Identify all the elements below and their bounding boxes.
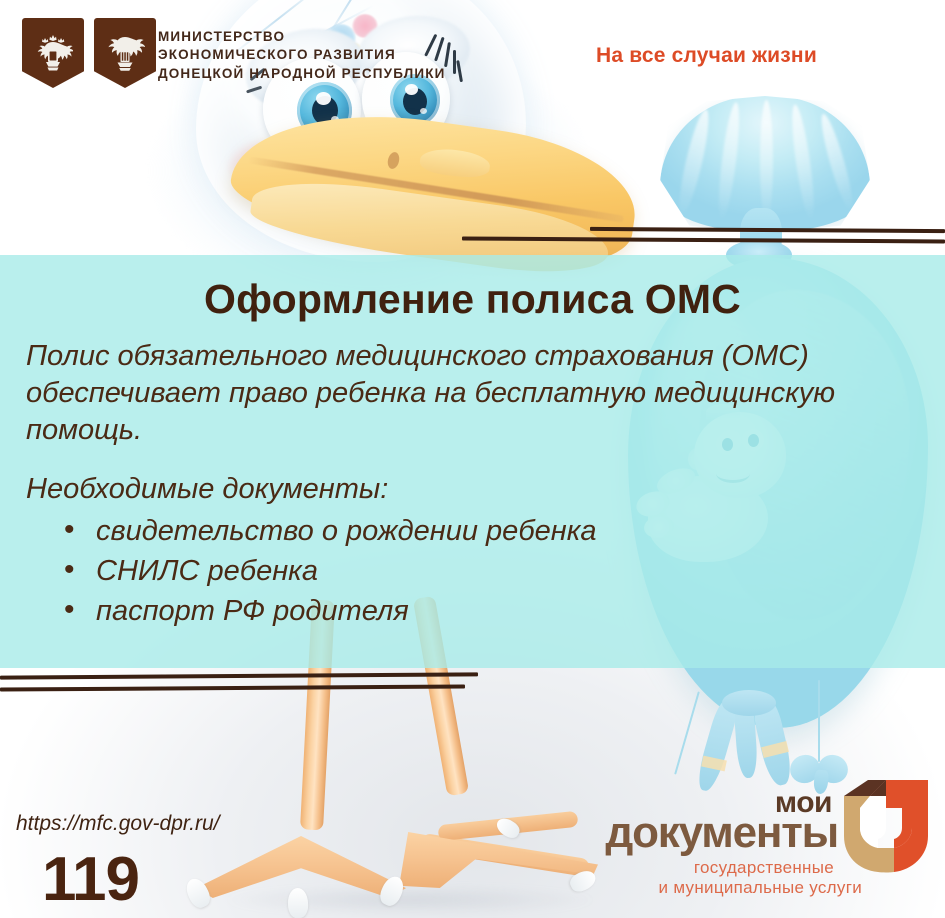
donetsk-peoples-republic-coat-of-arms-icon xyxy=(94,18,156,88)
tagline: На все случаи жизни xyxy=(596,44,817,68)
bundle-fold xyxy=(760,100,773,222)
header: МИНИСТЕРСТВО ЭКОНОМИЧЕСКОГО РАЗВИТИЯ ДОН… xyxy=(0,0,945,110)
content-panel: Оформление полиса ОМС Полис обязательног… xyxy=(0,255,945,668)
documents-list: свидетельство о рождении ребенка СНИЛС р… xyxy=(26,512,919,631)
mfc-logo-subtitle-line1: государственные xyxy=(694,858,834,878)
page-title: Оформление полиса ОМС xyxy=(26,255,919,322)
emblems-group xyxy=(22,18,156,88)
poster: МИНИСТЕРСТВО ЭКОНОМИЧЕСКОГО РАЗВИТИЯ ДОН… xyxy=(0,0,945,918)
mfc-shield-icon xyxy=(842,778,930,874)
ministry-name: МИНИСТЕРСТВО ЭКОНОМИЧЕСКОГО РАЗВИТИЯ ДОН… xyxy=(158,28,445,83)
documents-label: Необходимые документы: xyxy=(26,471,919,507)
hotline-number: 119 xyxy=(42,844,139,915)
ribbon-bow xyxy=(790,752,850,786)
list-item: СНИЛС ребенка xyxy=(56,552,919,590)
stork-claw xyxy=(287,888,308,918)
mfc-logo-subtitle-line2: и муниципальные услуги xyxy=(659,878,862,898)
russian-federation-coat-of-arms-icon xyxy=(22,18,84,88)
ribbon-knot xyxy=(722,690,776,716)
ribbon-string xyxy=(818,680,820,762)
mfc-logo: мои документы государственные и муниципа… xyxy=(600,782,930,904)
mfc-logo-word-dokumenty: документы xyxy=(605,808,838,858)
lead-paragraph: Полис обязательного медицинского страхов… xyxy=(26,338,919,449)
site-url[interactable]: https://mfc.gov-dpr.ru/ xyxy=(16,812,219,836)
list-item: паспорт РФ родителя xyxy=(56,592,919,630)
list-item: свидетельство о рождении ребенка xyxy=(56,512,919,550)
